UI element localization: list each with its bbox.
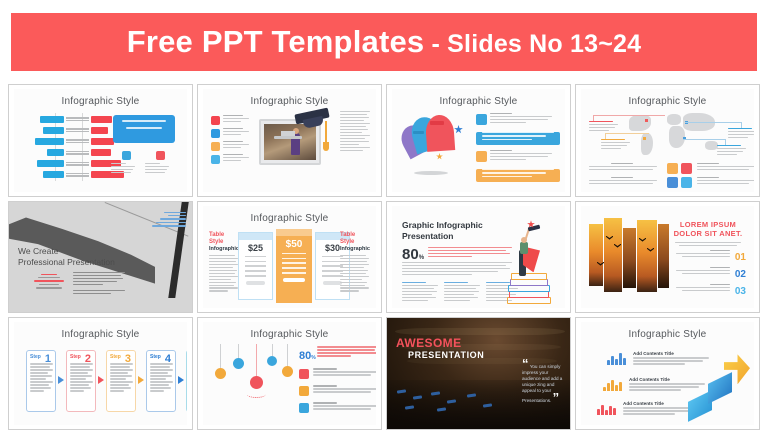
lightbulb-icon	[215, 368, 226, 379]
item-number: 01	[735, 252, 746, 263]
slide-6-title: Infographic Style	[203, 213, 376, 224]
item-number: 03	[735, 286, 746, 297]
headline-line-2: Professional Presentation	[18, 257, 115, 268]
heading-line-1: LOREM IPSUM	[670, 220, 746, 229]
table-row	[282, 258, 306, 260]
bar-right-cell	[91, 149, 111, 156]
mini-bar-chart-orange	[603, 378, 623, 391]
list-item	[299, 368, 376, 385]
arrow-segment-2	[708, 372, 732, 404]
lightbulb-icon	[233, 358, 244, 369]
list-item: 03	[670, 284, 746, 301]
step-card-2: Step 2	[66, 350, 96, 412]
map-node	[645, 119, 648, 122]
side-title-left: Table Style	[209, 232, 239, 246]
slide-5-canvas: We Create Professional Presentation	[9, 202, 192, 313]
price-value: $50	[276, 236, 312, 250]
heading-line-2: Presentation	[402, 231, 483, 242]
lightbulb-icon	[267, 356, 277, 366]
mini-bar-chart-blue	[607, 352, 627, 365]
balcony-row	[395, 328, 565, 335]
percent-value: 80%	[402, 246, 424, 263]
step-card-1: Step 1	[26, 350, 56, 412]
continent-europe	[667, 114, 681, 125]
document-icon	[211, 142, 220, 151]
collage-photo	[637, 220, 657, 292]
footnote-block	[145, 163, 171, 175]
table-row	[282, 272, 306, 274]
slide-10-percent: 80%	[299, 346, 316, 364]
collage-photo	[623, 228, 636, 288]
list-item: 01	[670, 250, 746, 267]
graduation-cap-icon	[413, 131, 424, 134]
list-item	[299, 385, 376, 402]
cta-button[interactable]	[283, 278, 305, 282]
slide-thumbnail-12[interactable]: Infographic Style Add Contents Title	[575, 317, 760, 430]
bar-blue	[40, 116, 64, 123]
slide-6-right-text: Table Style Infographic	[340, 232, 370, 294]
step-card-5: Step 5	[186, 350, 187, 412]
step-number: 4	[165, 353, 171, 365]
quote-open-mark: “	[522, 356, 529, 371]
bar-left-cell	[24, 127, 64, 134]
banner-title-main: Free PPT Templates	[127, 24, 425, 59]
graduation-cap-icon	[430, 121, 444, 125]
slide-9-canvas: Infographic Style Step 1 Step 2 Step 3	[14, 322, 187, 425]
percent-symbol: %	[311, 355, 315, 361]
slide-8-canvas: LOREM IPSUM DOLOR SIT ANET. 01 02	[581, 206, 754, 309]
bulb-cord	[272, 344, 273, 356]
lightbulb-icon-active	[250, 376, 263, 389]
mail-icon	[299, 369, 309, 379]
slide-thumbnail-3[interactable]: Infographic Style	[386, 84, 571, 197]
camera-icon	[211, 129, 220, 138]
bar-red	[91, 116, 112, 123]
percent-description	[317, 346, 376, 358]
cta-button[interactable]	[246, 281, 265, 285]
slide-1-title: Infographic Style	[14, 96, 187, 107]
book-stack-item	[507, 297, 551, 304]
bar-right-cell	[91, 138, 114, 145]
content-box-blue	[476, 132, 560, 145]
book-stack-item	[511, 273, 547, 280]
monitor-base	[274, 136, 302, 139]
slide-5-corner-text	[148, 212, 186, 227]
bar-blue	[47, 149, 64, 156]
headline-line-1: We Create	[18, 246, 115, 257]
bulb-cord	[256, 344, 257, 376]
world-map	[623, 111, 727, 163]
slide-10-canvas: Infographic Style 80%	[203, 322, 376, 425]
banner-title: Free PPT Templates - Slides No 13~24	[127, 24, 642, 60]
slide-thumbnail-8[interactable]: LOREM IPSUM DOLOR SIT ANET. 01 02	[575, 201, 760, 314]
heading-line-1: Graphic Infographic	[402, 220, 483, 231]
bar-blue	[37, 160, 64, 167]
bar-red	[91, 127, 108, 134]
bulb-cord	[238, 344, 239, 358]
slide-10-list	[299, 368, 376, 419]
step-card-4: Step 4	[146, 350, 176, 412]
shadow-ellipse	[414, 171, 448, 175]
slide-12-title: Infographic Style	[581, 329, 754, 340]
tassel-icon	[325, 121, 327, 143]
swoosh-red	[425, 114, 455, 152]
table-row	[245, 261, 266, 263]
table-row	[245, 275, 266, 277]
bar-left-cell	[24, 160, 64, 167]
center-label	[64, 172, 91, 178]
percent-description	[428, 247, 512, 259]
slide-2-canvas: Infographic Style	[203, 89, 376, 192]
slide-11-canvas: AWESOME PRESENTATION “ You can simply im…	[387, 318, 570, 429]
chevron-right-icon	[58, 376, 64, 384]
slide-11-quote: “ You can simply impress your audience a…	[522, 360, 564, 404]
slide-9-title: Infographic Style	[14, 329, 187, 340]
chart-icon	[667, 177, 678, 188]
slide-6-canvas: Infographic Style Table Style Infographi…	[203, 206, 376, 309]
bar-left-cell	[24, 149, 64, 156]
column-block	[402, 282, 438, 303]
pricing-column-1: $25	[238, 232, 273, 300]
connector-line	[593, 115, 665, 116]
growth-arrow	[688, 344, 750, 418]
continent-north-america	[629, 115, 651, 131]
chevron-right-icon	[178, 376, 184, 384]
ceremony-photo: AWESOME PRESENTATION “ You can simply im…	[387, 318, 570, 429]
quote-close-mark: ”	[553, 390, 560, 405]
star-icon	[436, 153, 443, 160]
page-banner: Free PPT Templates - Slides No 13~24	[11, 13, 757, 71]
slide-thumbnail-6[interactable]: Infographic Style Table Style Infographi…	[197, 201, 382, 314]
map-node	[643, 137, 646, 140]
template-gallery-page: Free PPT Templates - Slides No 13~24 Inf…	[0, 0, 768, 435]
slide-5-headline: We Create Professional Presentation	[18, 246, 115, 268]
bottom-text	[589, 163, 657, 172]
slide-thumbnail-11[interactable]: AWESOME PRESENTATION “ You can simply im…	[386, 317, 571, 430]
slide-11-main-heading: PRESENTATION	[408, 350, 484, 360]
pricing-table: $25 $50	[238, 232, 350, 300]
step-card-3: Step 3	[106, 350, 136, 412]
content-item	[476, 150, 560, 166]
step-number: 2	[85, 353, 91, 365]
center-label	[64, 161, 91, 167]
slide-1-callout-box	[113, 115, 175, 143]
bar-left-cell	[24, 116, 64, 123]
chevron-right-icon	[98, 376, 104, 384]
column-header	[239, 233, 272, 240]
hero-torso	[520, 242, 528, 254]
lightbulb-group	[211, 344, 289, 418]
mini-bar-chart-red	[597, 402, 617, 415]
slide-thumbnail-4[interactable]: Infographic Style	[575, 84, 760, 197]
table-row	[282, 262, 306, 264]
slide-5-paragraph	[73, 272, 125, 296]
column-header	[276, 229, 312, 236]
slide-3-title: Infographic Style	[392, 96, 565, 107]
graduate-icon	[211, 155, 220, 164]
step-number: 3	[125, 353, 131, 365]
side-subtitle-right: Infographic	[340, 246, 370, 252]
slide-thumbnail-9[interactable]: Infographic Style Step 1 Step 2 Step 3	[8, 317, 193, 430]
slide-4-title: Infographic Style	[581, 96, 754, 107]
slide-4-canvas: Infographic Style	[581, 89, 754, 192]
globe-icon	[476, 114, 487, 125]
bulb-glow	[247, 391, 266, 398]
slide-3-canvas: Infographic Style	[392, 89, 565, 192]
slide-5-accent-text	[31, 274, 67, 289]
side-title-right: Table Style	[340, 232, 370, 246]
slide-2-paragraph	[340, 111, 370, 153]
bar-left-cell	[24, 171, 64, 178]
slide-7-heading: Graphic Infographic Presentation	[402, 220, 483, 242]
collage-photo	[604, 218, 622, 292]
collage-photo	[658, 224, 669, 288]
bar-red	[91, 149, 111, 156]
slide-12-canvas: Infographic Style Add Contents Title	[581, 322, 754, 425]
gear-icon	[667, 163, 678, 174]
pricing-column-2: $50	[276, 229, 312, 303]
callout-text	[601, 139, 631, 151]
lightbulb-icon	[282, 366, 293, 377]
table-row	[245, 256, 266, 258]
connector-line	[685, 122, 741, 123]
connector-line	[683, 139, 725, 140]
center-label	[64, 127, 91, 133]
slide-thumbnail-1[interactable]: Infographic Style	[8, 84, 193, 197]
chevron-right-icon	[138, 376, 144, 384]
bar-right-cell	[91, 127, 108, 134]
bar-left-cell	[24, 138, 64, 145]
table-row	[24, 149, 129, 157]
slide-thumbnail-2[interactable]: Infographic Style	[197, 84, 382, 197]
table-row	[245, 270, 266, 272]
callout-text	[717, 145, 747, 157]
center-label	[64, 116, 91, 122]
content-box-orange	[476, 169, 560, 182]
slide-6-left-text: Table Style Infographic	[209, 232, 239, 294]
photo-collage	[589, 218, 675, 298]
speech-bubble-icon	[156, 151, 165, 160]
cover-photo: We Create Professional Presentation	[9, 202, 192, 313]
footnote-block	[111, 163, 137, 175]
speech-bubble-icon	[122, 151, 131, 160]
bar-blue	[43, 171, 64, 178]
bar-red	[91, 138, 114, 145]
monitor-screen	[264, 124, 316, 160]
slide-2-title: Infographic Style	[203, 96, 376, 107]
slide-11-accent-heading: AWESOME	[396, 336, 461, 350]
item-number: 02	[735, 269, 746, 280]
center-label	[64, 150, 91, 156]
slide-thumbnail-7[interactable]: Graphic Infographic Presentation 80%	[386, 201, 571, 314]
callout-text	[589, 121, 619, 133]
heading-line-2: DOLOR SIT ANET.	[670, 229, 746, 238]
content-item	[476, 113, 560, 129]
slide-1-canvas: Infographic Style	[14, 89, 187, 192]
monitor-icon	[299, 403, 309, 413]
table-row	[245, 265, 266, 267]
climbing-books-illustration	[501, 218, 557, 306]
target-icon	[476, 151, 487, 162]
percent-value: 80	[299, 350, 311, 362]
slides-grid: Infographic Style	[8, 84, 760, 430]
bottom-text	[697, 177, 754, 186]
connector-line	[605, 133, 649, 134]
bulb-cord	[287, 344, 288, 366]
bar-right-cell	[91, 116, 112, 123]
list-item: 02	[670, 267, 746, 284]
table-row	[282, 253, 306, 255]
book-stack-item	[508, 285, 550, 292]
step-number: 1	[45, 353, 51, 365]
table-row	[282, 267, 306, 269]
bar-blue	[43, 127, 64, 134]
slide-10-title: Infographic Style	[203, 329, 376, 340]
book-icon	[681, 177, 692, 188]
collage-photo	[589, 224, 603, 286]
book-stack-item	[510, 279, 548, 286]
center-label	[64, 138, 91, 144]
book-stack-item	[509, 291, 549, 298]
slide-8-items: 01 02 03	[670, 250, 746, 301]
column-block	[444, 282, 480, 303]
slide-7-paragraph	[402, 262, 512, 277]
slide-8-heading: LOREM IPSUM DOLOR SIT ANET.	[670, 220, 746, 247]
list-item	[299, 402, 376, 419]
banner-title-sub: - Slides No 13~24	[424, 30, 641, 58]
slide-thumbnail-5[interactable]: We Create Professional Presentation	[8, 201, 193, 314]
home-icon	[211, 116, 220, 125]
slide-3-content-blocks	[476, 113, 560, 182]
building-icon	[681, 163, 692, 174]
bottom-text	[589, 177, 657, 186]
price-value: $25	[239, 240, 272, 253]
graduate-illustration	[400, 113, 472, 179]
slide-thumbnail-10[interactable]: Infographic Style 80%	[197, 317, 382, 430]
callout-text	[728, 128, 754, 140]
bulb-cord	[220, 344, 221, 368]
cloud-icon	[299, 386, 309, 396]
side-subtitle-left: Infographic	[209, 246, 239, 252]
bar-blue	[35, 138, 64, 145]
bottom-text	[697, 163, 754, 172]
star-icon	[454, 125, 463, 134]
slide-7-canvas: Graphic Infographic Presentation 80%	[392, 206, 565, 309]
